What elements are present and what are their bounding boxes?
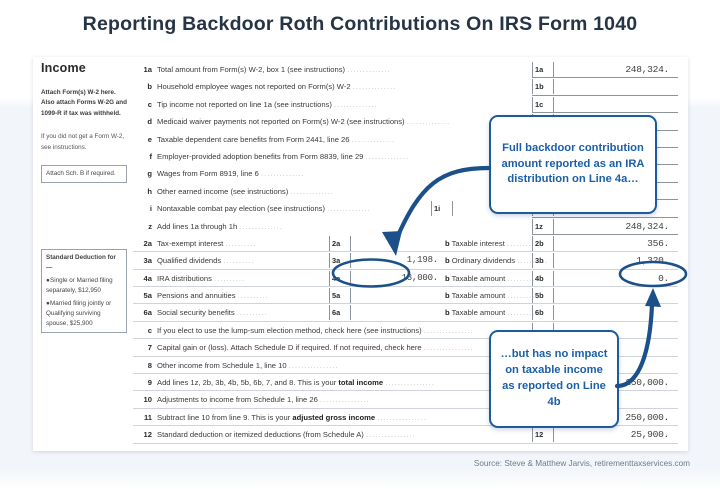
line-number: 7: [133, 343, 152, 352]
form-row: zAdd lines 1a through 1h ..............1…: [133, 218, 681, 235]
form-row: 4aIRA distributions ..........4a13,000.b…: [133, 270, 681, 287]
right-line-code: 1c: [532, 97, 554, 112]
standard-deduction-box: Standard Deduction for — ●Single or Marr…: [41, 249, 127, 333]
leader-dots: ................: [366, 430, 416, 439]
line-number: 1a: [133, 65, 152, 74]
std-ded-single: Single or Married filing separately, $12…: [46, 277, 113, 294]
mid-line-code: 5a: [329, 288, 350, 303]
line-number: 3a: [133, 256, 152, 265]
leader-dots: ................: [289, 361, 339, 370]
sub-line-description: b Taxable amount ..........: [445, 274, 538, 283]
line-number: f: [133, 152, 152, 161]
right-line-code: 1z: [532, 219, 554, 234]
line-description: Tip income not reported on line 1a (see …: [157, 100, 378, 109]
line-number: g: [133, 169, 152, 178]
line-number: 5a: [133, 291, 152, 300]
right-line-code: 6b: [532, 305, 554, 320]
amount-value: 0.: [556, 271, 678, 286]
line-number: c: [133, 326, 152, 335]
right-line-code: 1b: [532, 79, 554, 94]
line-description: Nontaxable combat pay election (see inst…: [157, 204, 371, 213]
right-line-code: 1a: [532, 62, 554, 77]
leader-dots: ................: [320, 395, 370, 404]
leader-dots: ..........: [214, 274, 245, 283]
line-number: e: [133, 135, 152, 144]
form-row: bHousehold employee wages not reported o…: [133, 78, 681, 95]
right-line-code: 5b: [532, 288, 554, 303]
line-number: 4a: [133, 274, 152, 283]
mid-entry-cell[interactable]: [350, 305, 442, 320]
leader-dots: ................: [424, 343, 474, 352]
amount-value: 248,324.: [556, 219, 678, 234]
form-row: 3aQualified dividends ..........3a1,198.…: [133, 252, 681, 269]
income-section-heading: Income: [41, 61, 127, 75]
line-description: Pensions and annuities ..........: [157, 291, 269, 300]
leader-dots: ................: [385, 378, 435, 387]
leader-dots: ..........: [225, 239, 256, 248]
mid-line-code: 2a: [329, 236, 350, 251]
leader-dots: ..............: [327, 204, 371, 213]
line-description: Total amount from Form(s) W-2, box 1 (se…: [157, 65, 391, 74]
callout-line-4a: Full backdoor contribution amount report…: [489, 115, 657, 214]
std-ded-mfj: Married filing jointly or Qualifying sur…: [46, 300, 111, 327]
line-description: Tax-exempt interest ..........: [157, 239, 256, 248]
line-number: 10: [133, 395, 152, 404]
line-number: c: [133, 100, 152, 109]
line-description: Social security benefits ..........: [157, 308, 268, 317]
line-description: Standard deduction or itemized deduction…: [157, 430, 416, 439]
line-description: Medicaid waiver payments not reported on…: [157, 117, 450, 126]
leader-dots: ..............: [366, 152, 410, 161]
amount-value: 248,324.: [556, 62, 678, 77]
form-row: 12Standard deduction or itemized deducti…: [133, 426, 681, 443]
line-number: b: [133, 82, 152, 91]
line-number: h: [133, 187, 152, 196]
income-lines-2: 2aTax-exempt interest ..........2ab Taxa…: [133, 235, 681, 322]
leader-dots: ..............: [290, 187, 334, 196]
line-description: Qualified dividends ..........: [157, 256, 254, 265]
form-row: 1aTotal amount from Form(s) W-2, box 1 (…: [133, 61, 681, 78]
attach-forms-note: Attach Form(s) W-2 here. Also attach For…: [41, 88, 127, 119]
leader-dots: ................: [377, 413, 427, 422]
line-number: 11: [133, 413, 152, 422]
amount-value: 356.: [556, 236, 678, 251]
line-description: Subtract line 10 from line 9. This is yo…: [157, 413, 427, 422]
mid-line-code: 6a: [329, 305, 350, 320]
row-rule-full: [133, 443, 678, 444]
leader-dots: ..............: [352, 135, 396, 144]
amount-value: [556, 305, 678, 320]
line-number: 2a: [133, 239, 152, 248]
leader-dots: ..............: [261, 169, 305, 178]
form-left-stub: Income Attach Form(s) W-2 here. Also att…: [41, 61, 127, 333]
sub-line-description: b Taxable interest ..........: [445, 239, 538, 248]
mid-entry-value: 13,000.: [350, 271, 438, 286]
line-description: If you elect to use the lump-sum electio…: [157, 326, 474, 335]
amount-value: [556, 79, 678, 94]
line-number: i: [133, 204, 152, 213]
page-title: Reporting Backdoor Roth Contributions On…: [0, 13, 720, 36]
standard-deduction-title: Standard Deduction for —: [46, 254, 116, 271]
no-w2-note: If you did not get a Form W-2, see instr…: [41, 132, 127, 153]
amount-value: [556, 97, 678, 112]
line-description: Household employee wages not reported on…: [157, 82, 396, 91]
mid-line-code: 1i: [431, 201, 452, 216]
right-line-code: 2b: [532, 236, 554, 251]
leader-dots: ..............: [407, 117, 451, 126]
amount-value: 1,320.: [556, 253, 678, 268]
form-row: cTip income not reported on line 1a (see…: [133, 96, 681, 113]
leader-dots: ..........: [238, 291, 269, 300]
line-description: Adjustments to income from Schedule 1, l…: [157, 395, 370, 404]
amount-value: [556, 288, 678, 303]
callout-line-4b: …but has no impact on taxable income as …: [489, 330, 619, 428]
line-description: Add lines 1z, 2b, 3b, 4b, 5b, 6b, 7, and…: [157, 378, 435, 387]
mid-line-code: 3a: [329, 253, 350, 268]
source-attribution: Source: Steve & Matthew Jarvis, retireme…: [474, 459, 690, 468]
sub-line-description: b Taxable amount ..........: [445, 308, 538, 317]
line-description: Employer-provided adoption benefits from…: [157, 152, 409, 161]
line-description: Taxable dependent care benefits from For…: [157, 135, 395, 144]
line-number: 8: [133, 361, 152, 370]
leader-dots: ..............: [347, 65, 391, 74]
mid-entry-cell[interactable]: [350, 288, 442, 303]
leader-dots: ..............: [334, 100, 378, 109]
form-row: 2aTax-exempt interest ..........2ab Taxa…: [133, 235, 681, 252]
line-number: z: [133, 222, 152, 231]
mid-entry-cell[interactable]: [350, 236, 442, 251]
amount-value: 25,900.: [556, 427, 678, 442]
form-row: 5aPensions and annuities ..........5ab T…: [133, 287, 681, 304]
right-line-code: 3b: [532, 253, 554, 268]
mid-line-code: 4a: [329, 271, 350, 286]
leader-dots: ..........: [237, 308, 268, 317]
sub-line-description: b Taxable amount ..........: [445, 291, 538, 300]
leader-dots: ................: [424, 326, 474, 335]
right-line-code: 12: [532, 427, 554, 442]
line-number: 6a: [133, 308, 152, 317]
leader-dots: ..............: [239, 222, 283, 231]
line-description: Wages from Form 8919, line 6 ...........…: [157, 169, 305, 178]
leader-dots: ..........: [223, 256, 254, 265]
line-description: Other earned income (see instructions) .…: [157, 187, 334, 196]
line-number: 9: [133, 378, 152, 387]
page-root: Reporting Backdoor Roth Contributions On…: [0, 0, 720, 489]
form-row: 6aSocial security benefits ..........6ab…: [133, 304, 681, 321]
line-description: Add lines 1a through 1h ..............: [157, 222, 283, 231]
right-line-code: 4b: [532, 271, 554, 286]
leader-dots: ..............: [353, 82, 397, 91]
attach-sch-b-box: Attach Sch. B if required.: [41, 165, 127, 183]
line-number: 12: [133, 430, 152, 439]
line-description: Capital gain or (loss). Attach Schedule …: [157, 343, 474, 352]
mid-entry-value: 1,198.: [350, 253, 438, 268]
line-description: Other income from Schedule 1, line 10 ..…: [157, 361, 338, 370]
line-description: IRA distributions ..........: [157, 274, 245, 283]
line-number: d: [133, 117, 152, 126]
